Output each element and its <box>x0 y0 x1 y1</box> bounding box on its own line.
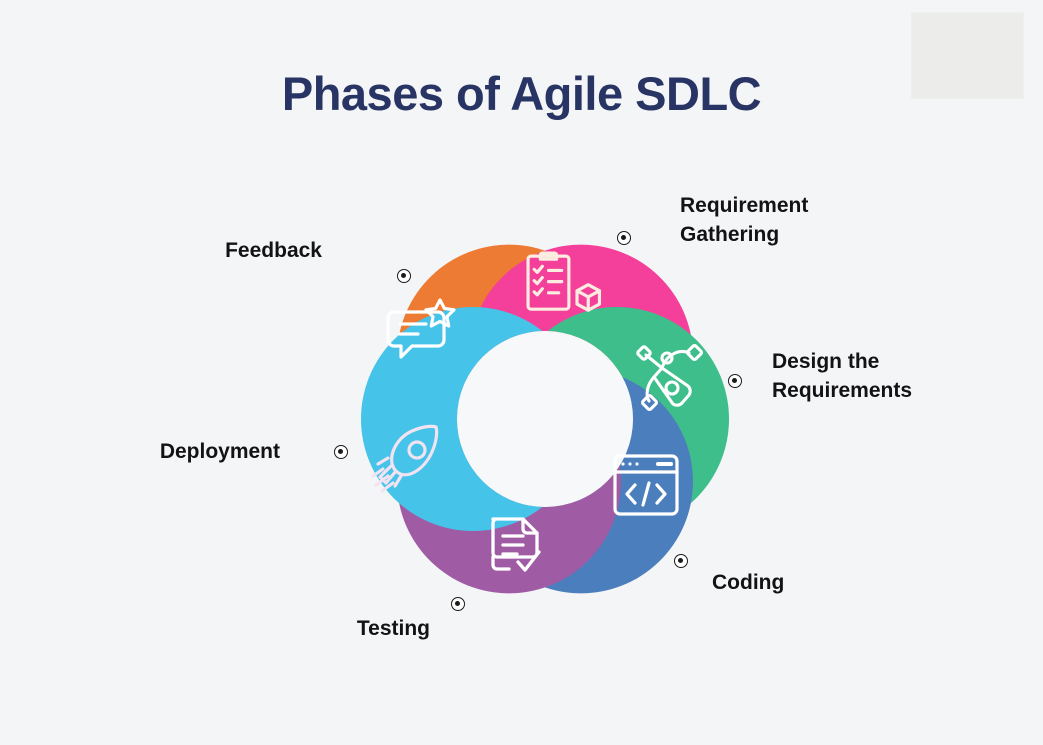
node-dot-deployment <box>334 445 348 459</box>
phase-label-testing: Testing <box>230 615 430 644</box>
phase-label-coding: Coding <box>712 569 912 598</box>
phase-label-requirement-gathering: Requirement Gathering <box>680 192 920 250</box>
phase-label-deployment: Deployment <box>60 438 280 467</box>
donut-center-hole <box>457 331 633 507</box>
phase-label-design-the-requirements: Design the Requirements <box>772 348 1012 406</box>
node-dot-coding <box>674 554 688 568</box>
node-dot-testing <box>451 597 465 611</box>
node-dot-design-the-requirements <box>728 374 742 388</box>
donut-chart <box>320 195 770 655</box>
node-dot-feedback <box>397 269 411 283</box>
agile-sdlc-cycle-diagram: Requirement Gathering Design the Require… <box>0 0 1043 745</box>
phase-label-feedback: Feedback <box>102 237 322 266</box>
node-dot-requirement-gathering <box>617 231 631 245</box>
